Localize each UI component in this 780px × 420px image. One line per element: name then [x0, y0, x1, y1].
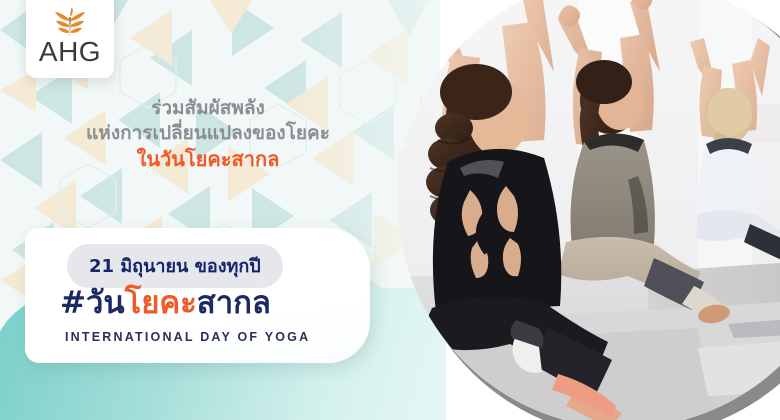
event-subtitle: INTERNATIONAL DAY OF YOGA: [65, 330, 310, 344]
logo-text: AHG: [39, 38, 101, 66]
hashtag-part-2: โยคะ: [125, 285, 197, 321]
headline-line-1: ร่วมสัมผัสพลัง: [36, 96, 380, 121]
yoga-photo: [398, 0, 780, 420]
headline-block: ร่วมสัมผัสพลัง แห่งการเปลี่ยนแปลงของโยคะ…: [36, 96, 380, 172]
ahg-logo[interactable]: AHG: [26, 0, 114, 78]
wheat-sprig-icon: [47, 7, 93, 37]
hashtag-part-3: สากล: [197, 285, 271, 321]
yoga-day-banner: AHG ร่วมสัมผัสพลัง แห่งการเปลี่ยนแปลงของ…: [0, 0, 780, 420]
headline-line-2: แห่งการเปลี่ยนแปลงของโยคะ: [36, 121, 380, 146]
campaign-hashtag: #วันโยคะสากล: [60, 286, 271, 320]
headline-line-3: ในวันโยคะสากล: [36, 146, 380, 172]
event-info-card: 21 มิถุนายน ของทุกปี #วันโยคะสากล INTERN…: [25, 228, 370, 363]
hashtag-part-1: #วัน: [60, 285, 125, 321]
yoga-photo-illustration: [398, 0, 780, 420]
event-date-badge: 21 มิถุนายน ของทุกปี: [67, 244, 283, 288]
